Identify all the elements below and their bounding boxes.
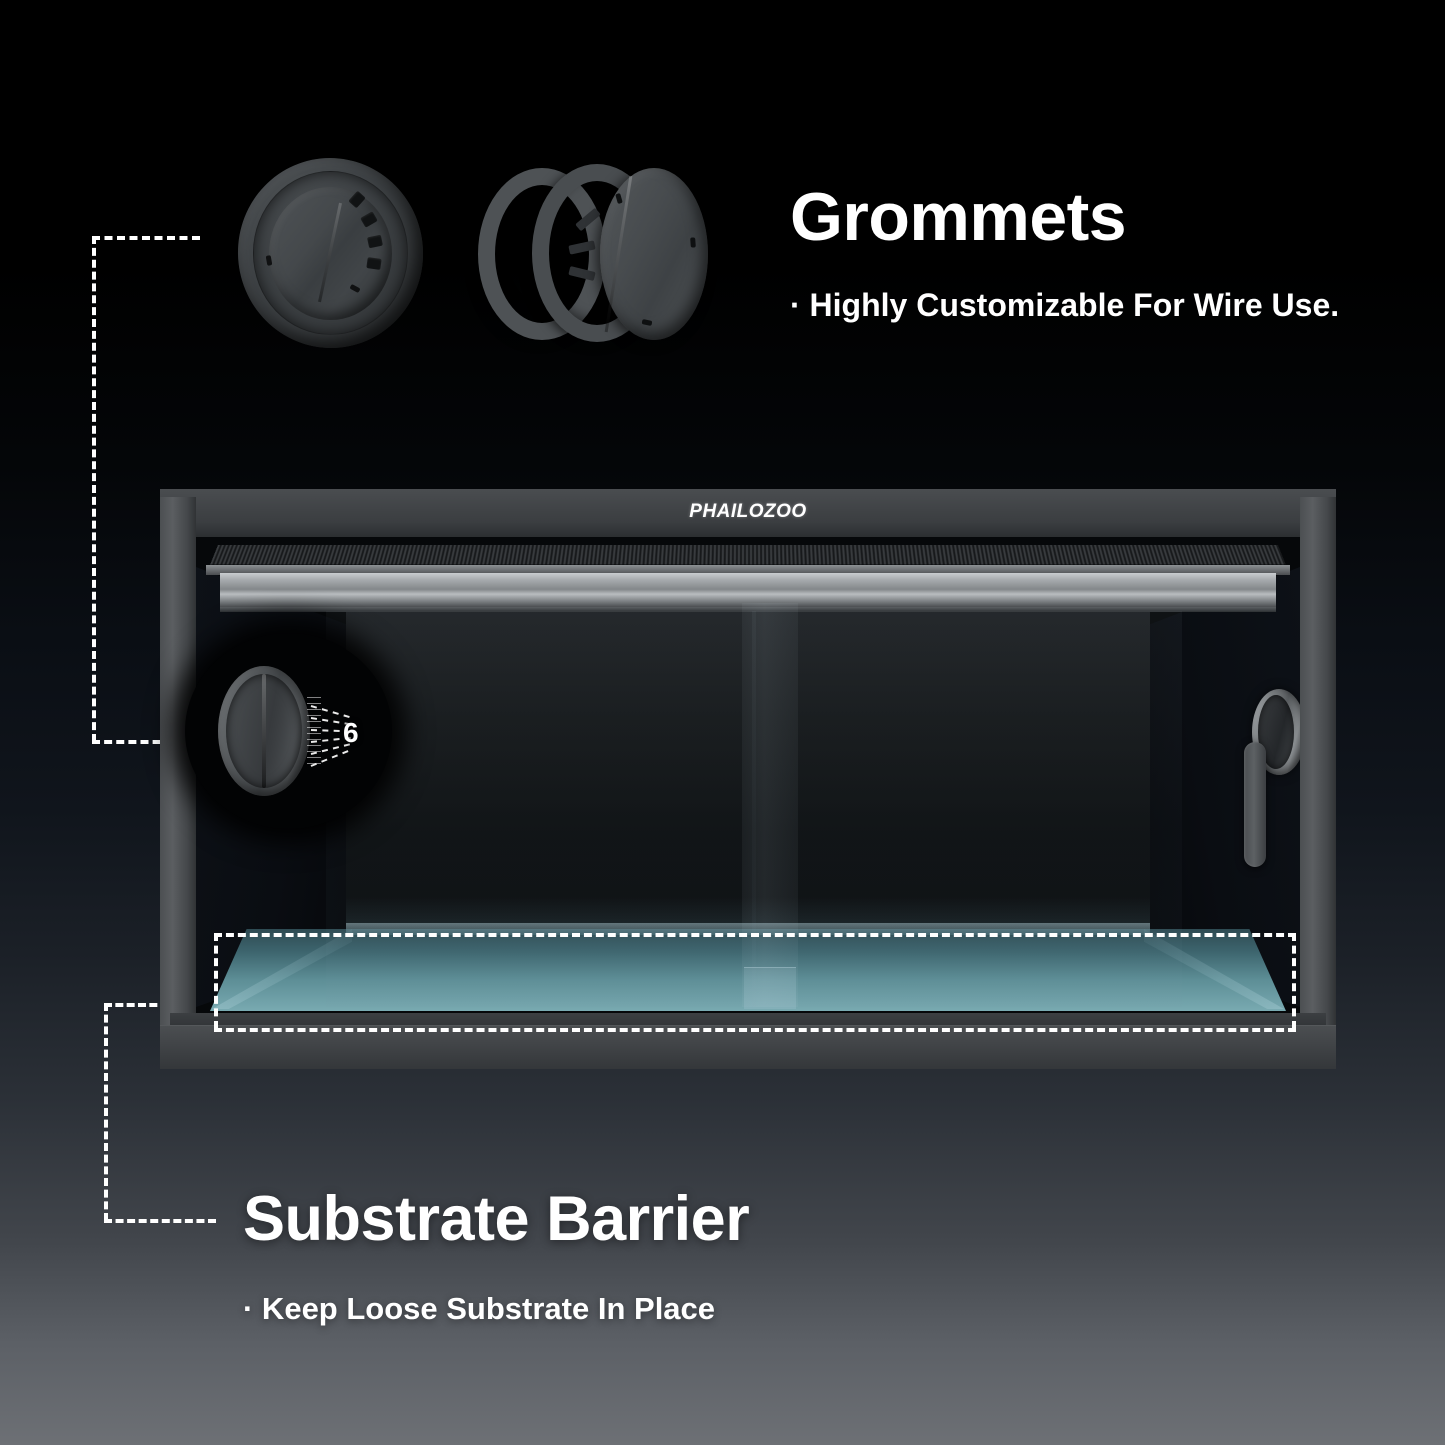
substrate-leader-bottom (104, 1219, 216, 1223)
grommet-magnifier-callout: 6 (185, 633, 392, 829)
grommet-leader-vertical (92, 236, 96, 742)
substrate-barrier-outline-top (214, 933, 1296, 937)
grommet-assembled-icon (238, 158, 423, 348)
substrate-barrier-outline-bottom (214, 1028, 1296, 1032)
callout-grommet-slot (262, 674, 266, 788)
grommet-exploded-icon (478, 158, 708, 348)
substrate-barrier-outline-left (214, 933, 218, 1029)
callout-grommet-icon (218, 666, 310, 796)
enclosure-top-rail-inner (190, 523, 1306, 537)
door-divider-foot (744, 967, 796, 1009)
enclosure-left-post (160, 497, 196, 1069)
sliding-glass-door-right[interactable] (752, 611, 1182, 1007)
substrate-bullet: · Keep Loose Substrate In Place (243, 1293, 749, 1324)
top-vent-mesh (210, 545, 1286, 565)
callout-count-label: 6 (343, 717, 359, 749)
grommets-title: Grommets (790, 183, 1339, 251)
grommet-teeth (238, 158, 423, 348)
sliding-glass-door-left[interactable] (326, 611, 756, 1007)
substrate-title: Substrate Barrier (243, 1188, 749, 1251)
product-feature-graphic: PHAILOZOO (0, 0, 1445, 1445)
grommet-cap-part (600, 168, 708, 340)
grommets-bullet: · Highly Customizable For Wire Use. (790, 289, 1339, 321)
grommet-leader-top (92, 236, 200, 240)
substrate-barrier-outline-right (1292, 933, 1296, 1029)
enclosure-right-post (1300, 497, 1336, 1069)
substrate-text-block: Substrate Barrier · Keep Loose Substrate… (243, 1188, 749, 1324)
door-handle-icon[interactable] (1244, 742, 1266, 867)
grommets-text-block: Grommets · Highly Customizable For Wire … (790, 183, 1339, 321)
top-sliding-track (220, 573, 1276, 607)
door-divider (742, 603, 798, 1007)
substrate-leader-vertical (104, 1003, 108, 1221)
brand-logo: PHAILOZOO (160, 501, 1336, 523)
